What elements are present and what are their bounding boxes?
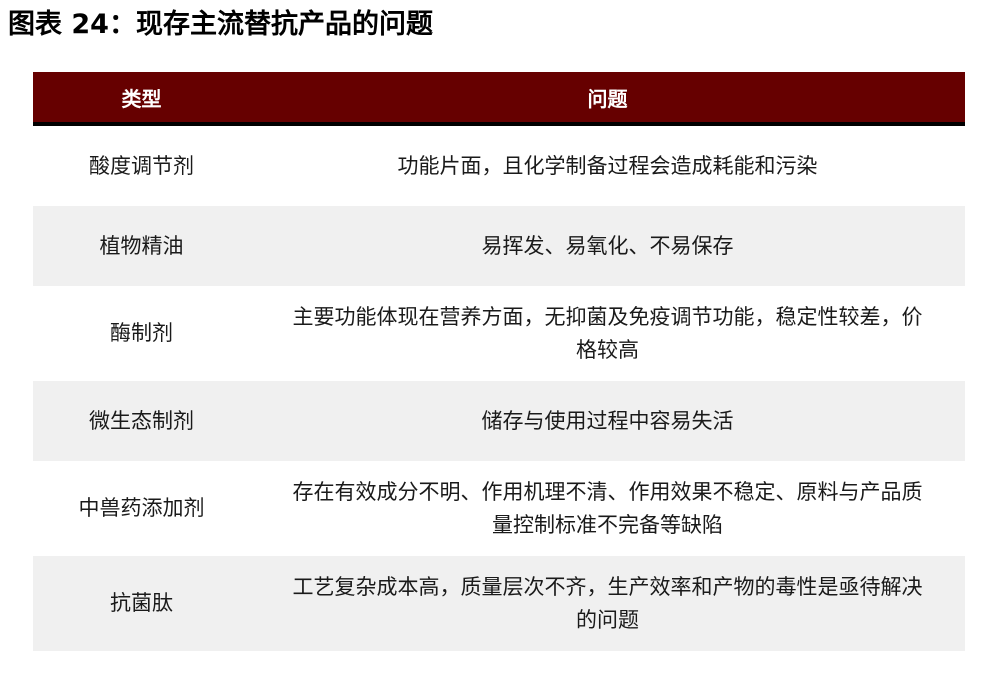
cell-type: 植物精油 <box>33 206 250 286</box>
table-row: 酶制剂 主要功能体现在营养方面，无抑菌及免疫调节功能，稳定性较差，价格较高 <box>33 286 965 381</box>
table-container: 类型 问题 酸度调节剂 功能片面，且化学制备过程会造成耗能和污染 植物精油 易挥… <box>33 72 965 651</box>
issue-text: 工艺复杂成本高，质量层次不齐，生产效率和产物的毒性是亟待解决的问题 <box>283 571 933 637</box>
issue-text: 易挥发、易氧化、不易保存 <box>283 230 933 263</box>
table-header: 类型 问题 <box>33 72 965 124</box>
table-row: 酸度调节剂 功能片面，且化学制备过程会造成耗能和污染 <box>33 124 965 206</box>
cell-type: 微生态制剂 <box>33 381 250 461</box>
cell-type: 酶制剂 <box>33 286 250 381</box>
column-header-issue: 问题 <box>250 72 965 124</box>
issue-text: 主要功能体现在营养方面，无抑菌及免疫调节功能，稳定性较差，价格较高 <box>283 301 933 367</box>
table-row: 中兽药添加剂 存在有效成分不明、作用机理不清、作用效果不稳定、原料与产品质量控制… <box>33 461 965 556</box>
issues-table: 类型 问题 酸度调节剂 功能片面，且化学制备过程会造成耗能和污染 植物精油 易挥… <box>33 72 965 651</box>
cell-issue: 工艺复杂成本高，质量层次不齐，生产效率和产物的毒性是亟待解决的问题 <box>250 556 965 651</box>
figure-page: 图表 24：现存主流替抗产品的问题 类型 问题 酸度调节剂 功能片面，且化学制备… <box>0 0 986 698</box>
column-header-type: 类型 <box>33 72 250 124</box>
issue-text: 储存与使用过程中容易失活 <box>283 405 933 438</box>
cell-issue: 主要功能体现在营养方面，无抑菌及免疫调节功能，稳定性较差，价格较高 <box>250 286 965 381</box>
table-body: 酸度调节剂 功能片面，且化学制备过程会造成耗能和污染 植物精油 易挥发、易氧化、… <box>33 124 965 651</box>
cell-issue: 易挥发、易氧化、不易保存 <box>250 206 965 286</box>
cell-type: 抗菌肽 <box>33 556 250 651</box>
cell-issue: 存在有效成分不明、作用机理不清、作用效果不稳定、原料与产品质量控制标准不完备等缺… <box>250 461 965 556</box>
issue-text: 存在有效成分不明、作用机理不清、作用效果不稳定、原料与产品质量控制标准不完备等缺… <box>283 476 933 542</box>
page-title: 图表 24：现存主流替抗产品的问题 <box>8 8 433 42</box>
cell-issue: 储存与使用过程中容易失活 <box>250 381 965 461</box>
cell-type: 中兽药添加剂 <box>33 461 250 556</box>
issue-text: 功能片面，且化学制备过程会造成耗能和污染 <box>283 150 933 183</box>
table-row: 抗菌肽 工艺复杂成本高，质量层次不齐，生产效率和产物的毒性是亟待解决的问题 <box>33 556 965 651</box>
table-header-row: 类型 问题 <box>33 72 965 124</box>
cell-issue: 功能片面，且化学制备过程会造成耗能和污染 <box>250 124 965 206</box>
table-row: 植物精油 易挥发、易氧化、不易保存 <box>33 206 965 286</box>
table-row: 微生态制剂 储存与使用过程中容易失活 <box>33 381 965 461</box>
cell-type: 酸度调节剂 <box>33 124 250 206</box>
